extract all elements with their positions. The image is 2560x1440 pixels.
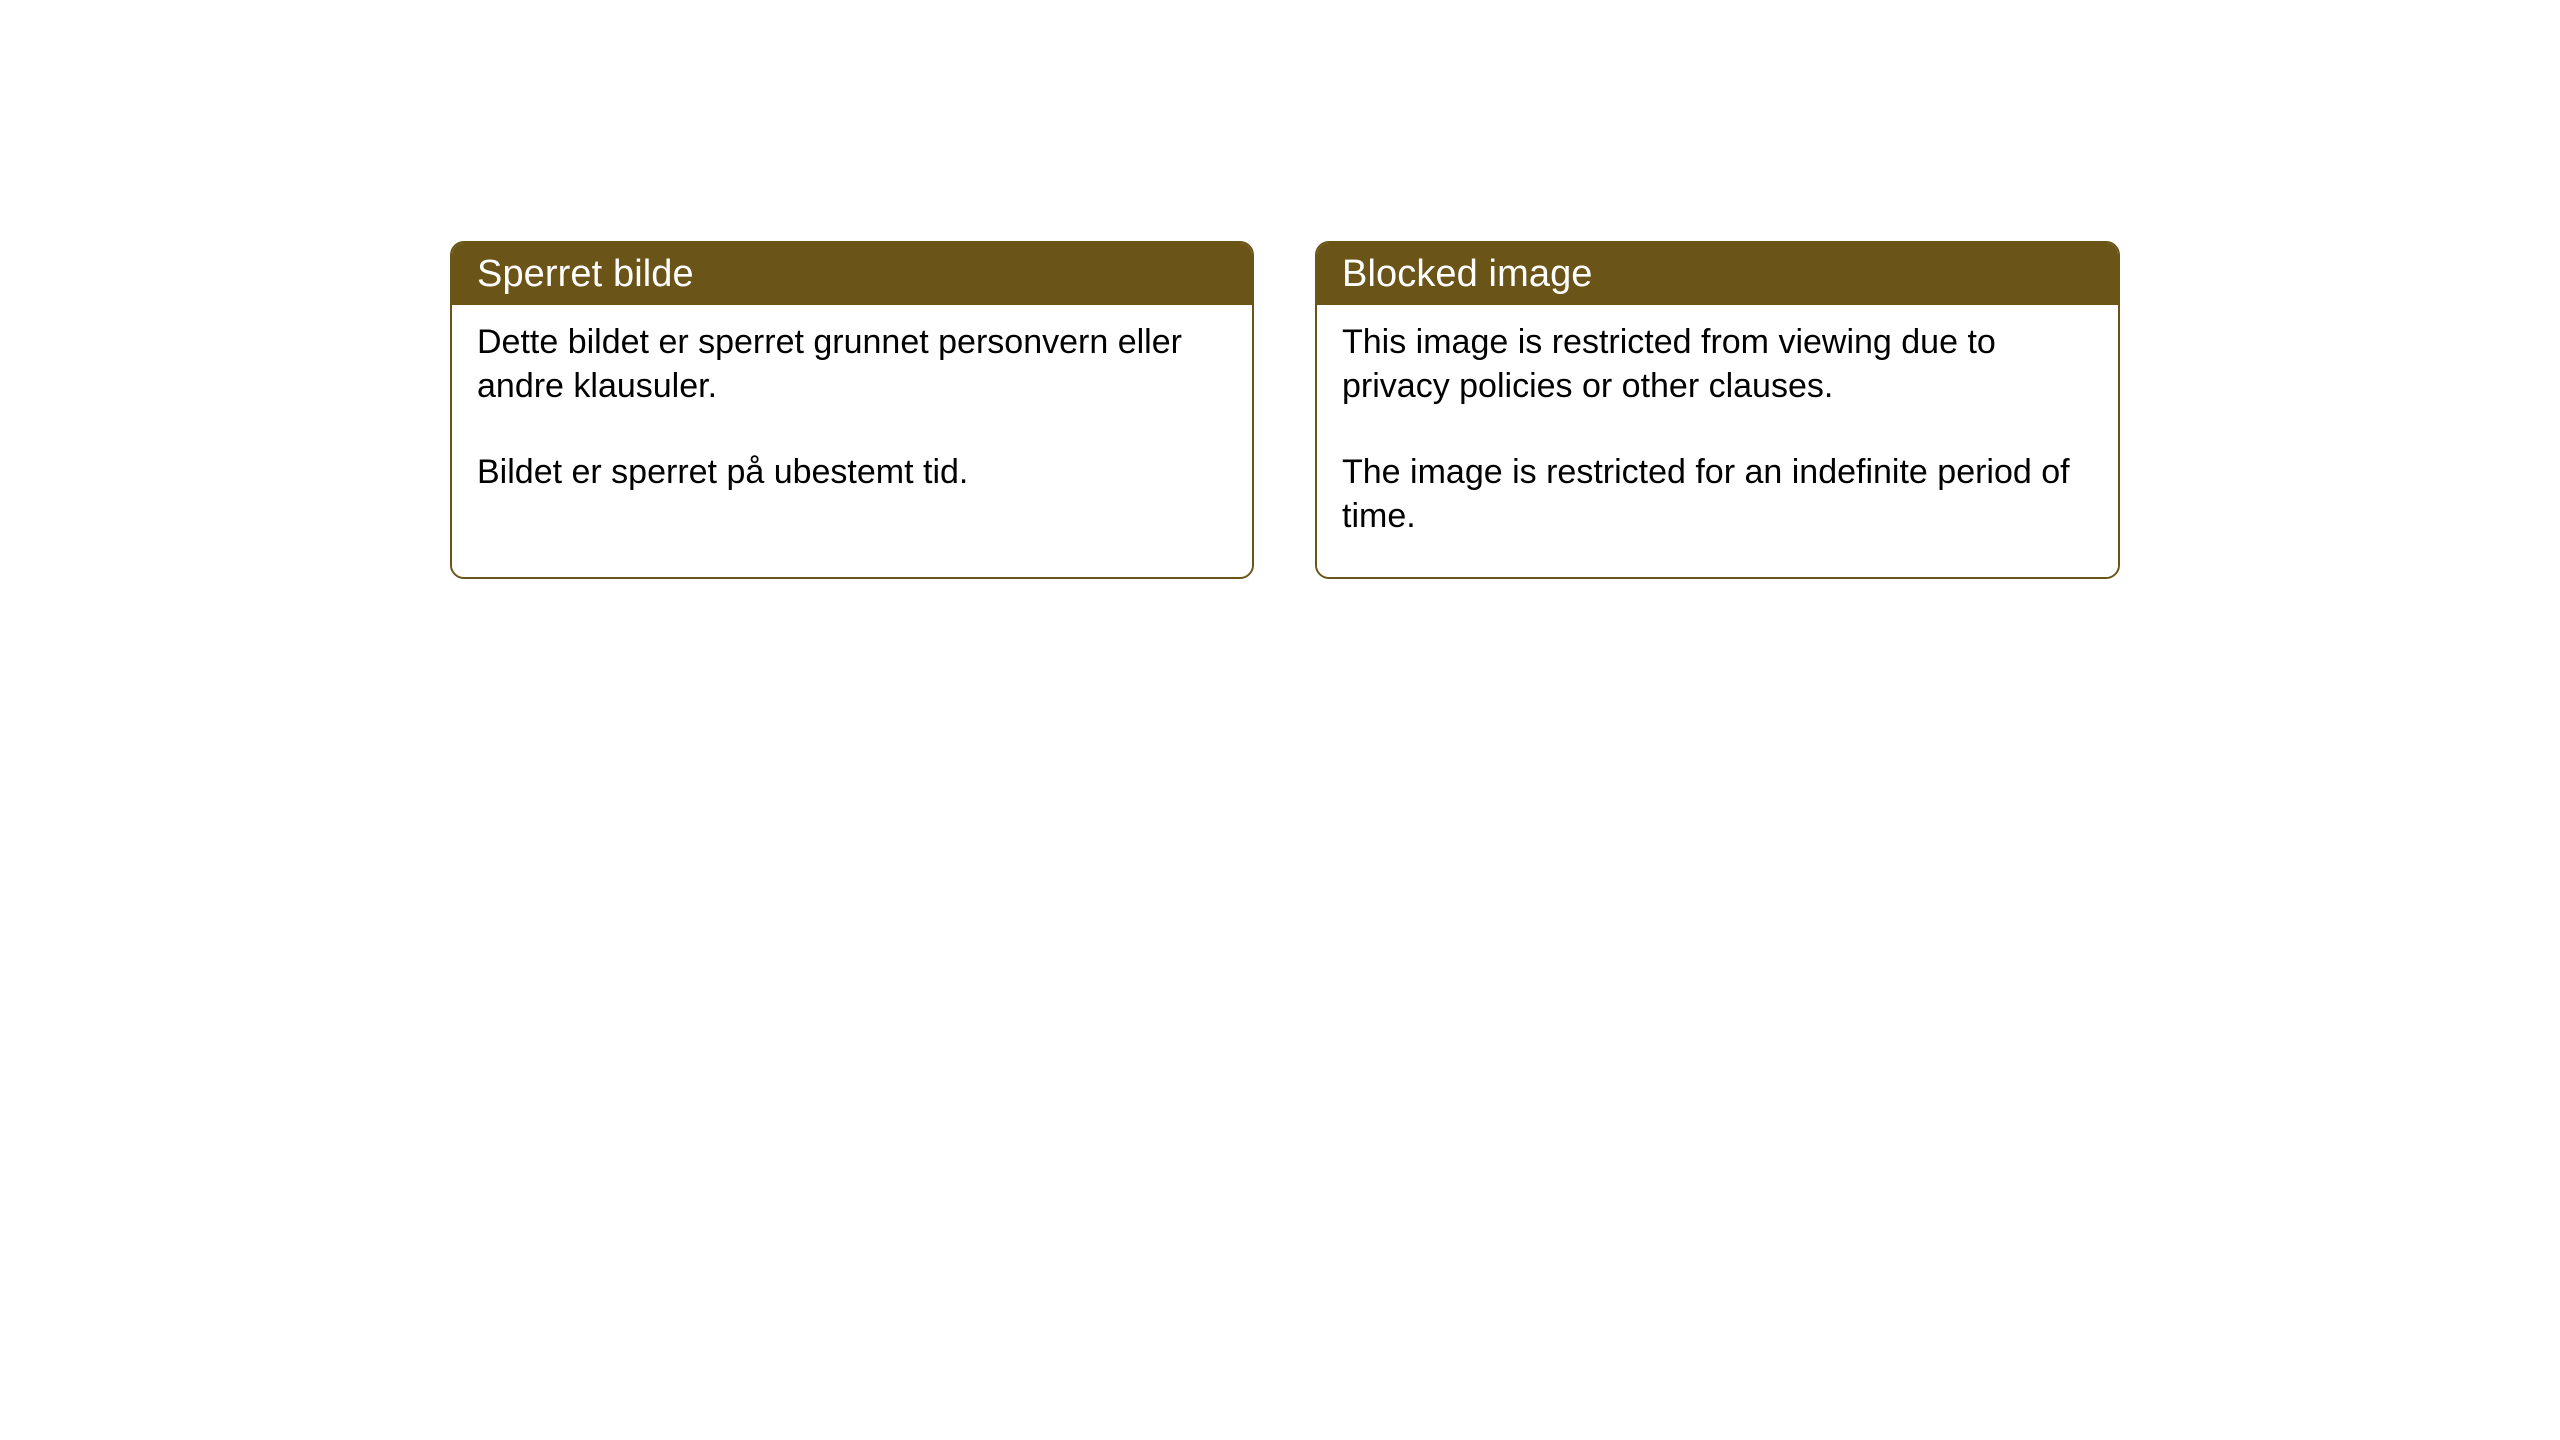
- card-paragraph-duration-english: The image is restricted for an indefinit…: [1342, 451, 2098, 538]
- card-body-norwegian: Dette bildet er sperret grunnet personve…: [452, 305, 1252, 577]
- card-paragraph-reason-norwegian: Dette bildet er sperret grunnet personve…: [477, 321, 1232, 408]
- card-title-english: Blocked image: [1342, 255, 1593, 293]
- page-canvas: Sperret bilde Dette bildet er sperret gr…: [0, 0, 2560, 1440]
- card-paragraph-duration-norwegian: Bildet er sperret på ubestemt tid.: [477, 451, 1232, 495]
- card-header-norwegian: Sperret bilde: [452, 243, 1252, 305]
- blocked-image-card-english: Blocked image This image is restricted f…: [1315, 241, 2120, 579]
- card-body-english: This image is restricted from viewing du…: [1317, 305, 2118, 577]
- card-title-norwegian: Sperret bilde: [477, 255, 694, 293]
- card-header-english: Blocked image: [1317, 243, 2118, 305]
- card-paragraph-reason-english: This image is restricted from viewing du…: [1342, 321, 2098, 408]
- blocked-image-card-norwegian: Sperret bilde Dette bildet er sperret gr…: [450, 241, 1254, 579]
